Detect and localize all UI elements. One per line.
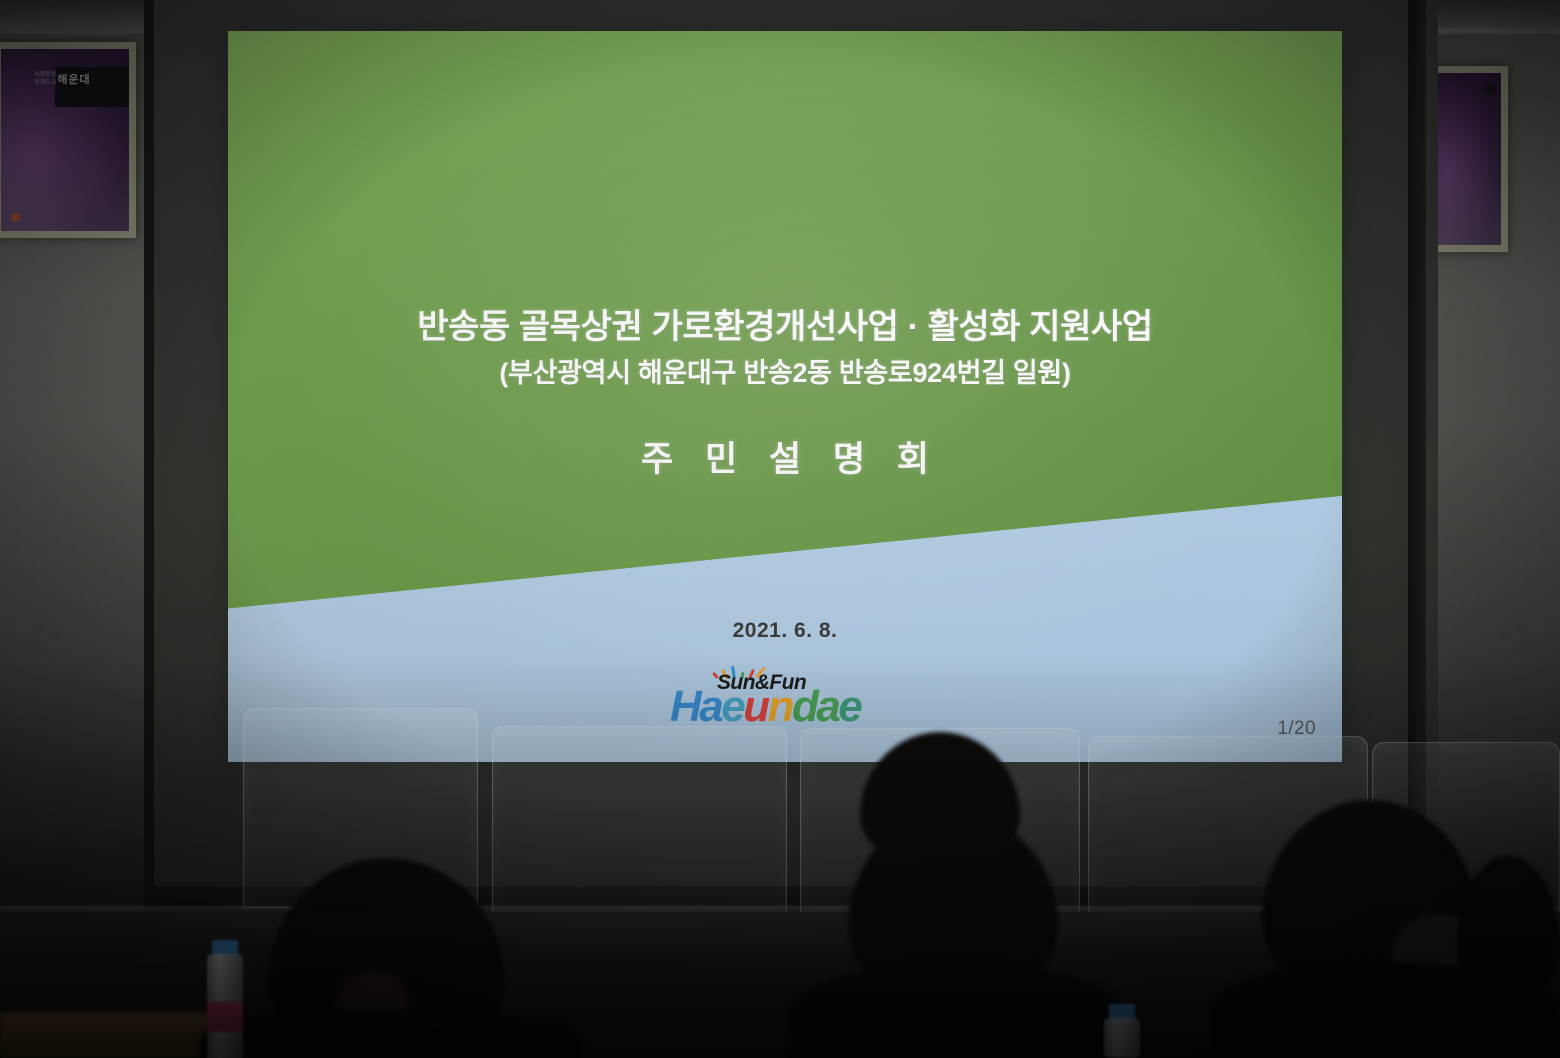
logo-letter-e-7: e [838, 685, 860, 729]
slide-title: 반송동 골목상권 가로환경개선사업 · 활성화 지원사업 [228, 299, 1342, 348]
poster-subcaption-2: 미래도시 [34, 79, 57, 87]
logo-letter-d-5: d [792, 685, 816, 729]
logo-letter-u-3: u [743, 685, 767, 729]
logo-wordmark: Haeundae [670, 685, 900, 729]
logo-letter-n-4: n [768, 685, 792, 729]
slide-date: 2021. 6. 8. [228, 619, 1342, 643]
logo-letter-a-6: a [816, 685, 838, 729]
logo-letter-e-2: e [721, 685, 743, 729]
slide-heading-meeting-type: 주 민 설 명 회 [228, 431, 1342, 482]
poster-subcaption-1: 사람중심 [34, 71, 57, 79]
conference-room-scene: 사람중심 미래도시 해운대 반송동 골목상권 가로환경개선사업 · 활성화 지원… [0, 0, 1560, 1058]
logo-letter-a-1: a [699, 685, 721, 729]
logo-letter-h-0: H [670, 685, 699, 729]
screen-edge-right [1408, 0, 1426, 905]
haeundae-logo: Sun&Fun Haeundae [670, 663, 900, 729]
wall-poster-left: 사람중심 미래도시 해운대 [0, 42, 136, 238]
screen-bottom-bar [144, 886, 1438, 912]
slide-page-number: 1/20 [1277, 718, 1316, 740]
poster-caption: 해운대 [57, 71, 129, 87]
presentation-slide[interactable]: 반송동 골목상권 가로환경개선사업 · 활성화 지원사업 (부산광역시 해운대구… [228, 31, 1342, 762]
slide-subtitle-location: (부산광역시 해운대구 반송2동 반송로924번길 일원) [228, 351, 1342, 390]
screen-edge-left [144, 0, 154, 905]
